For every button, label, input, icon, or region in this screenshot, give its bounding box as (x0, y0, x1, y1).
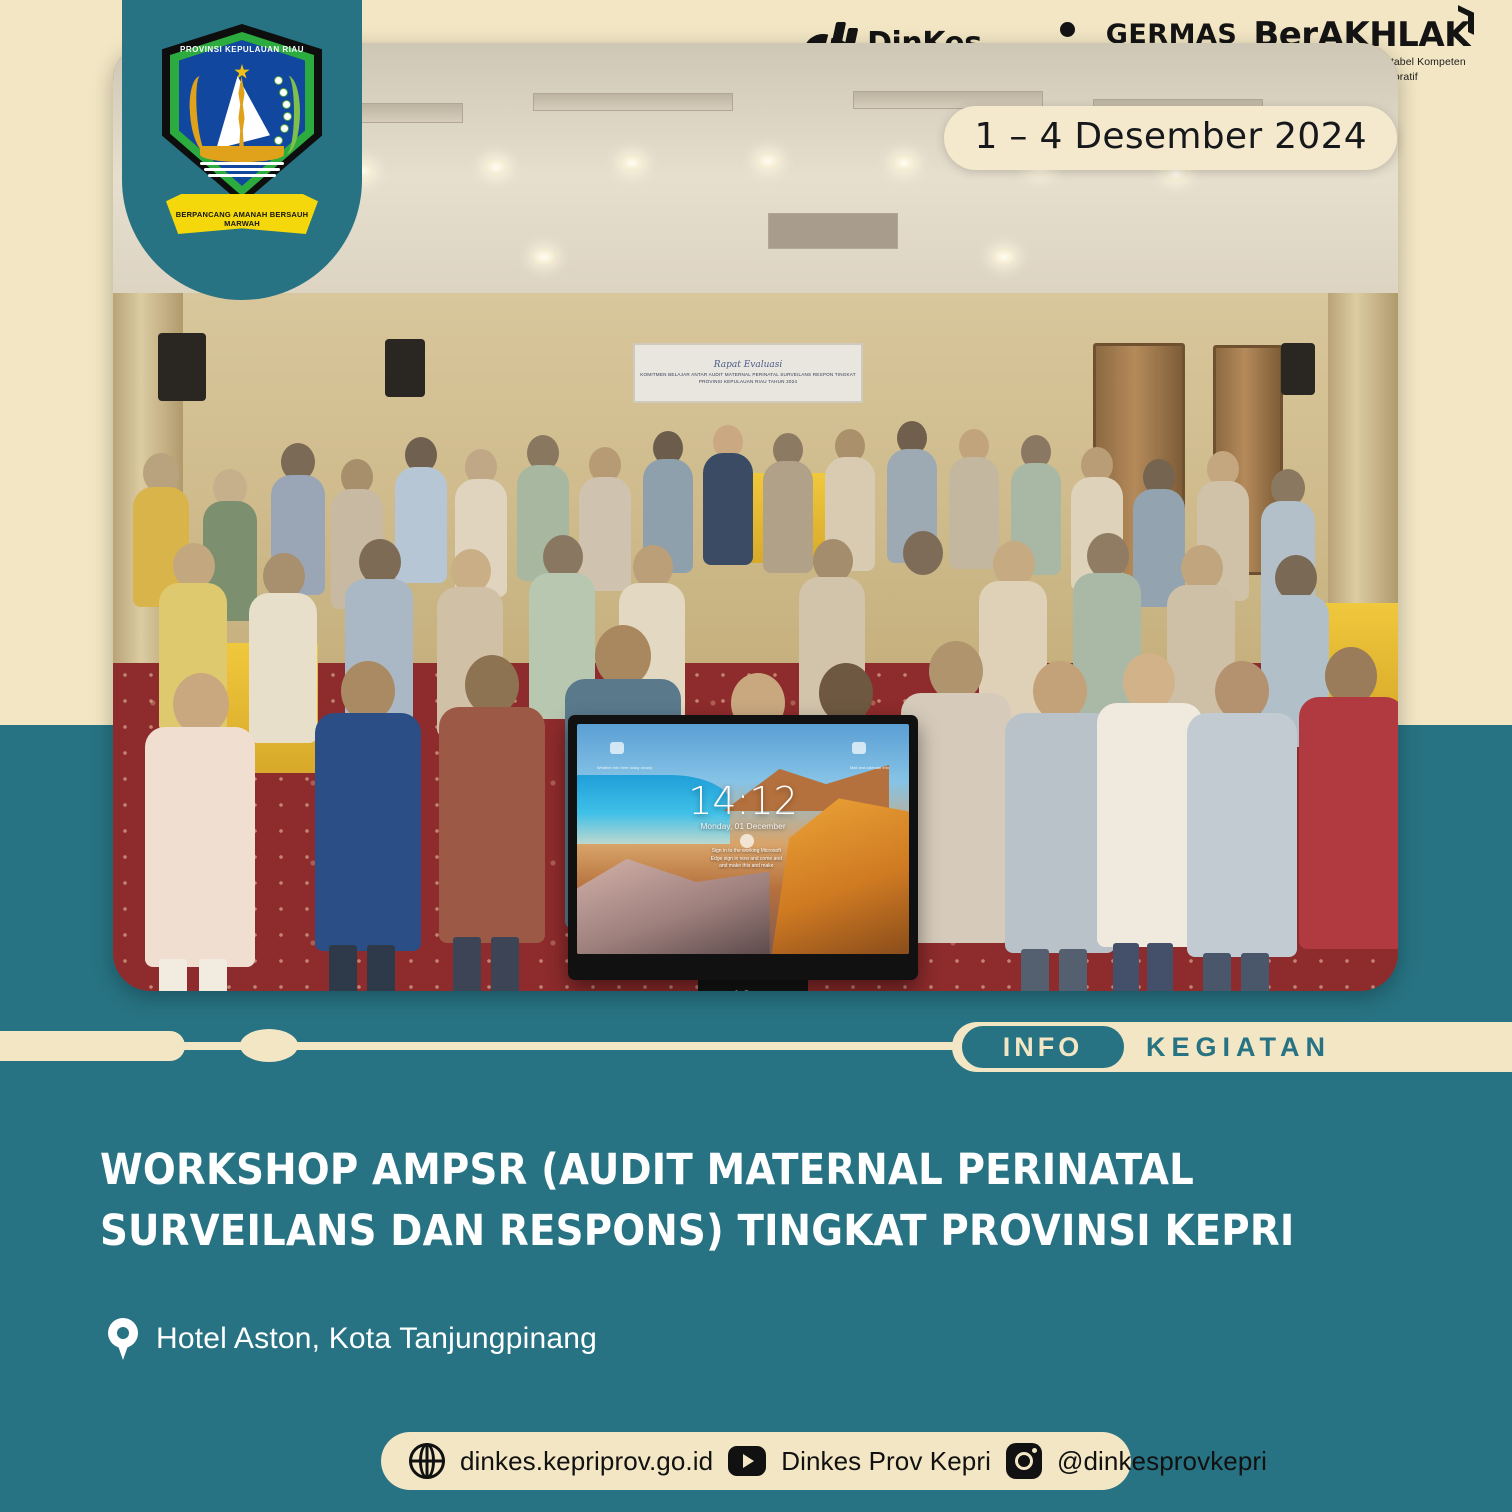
screen-clock: 14:12 (577, 779, 909, 823)
page-title-line-2: SURVEILANS DAN RESPONS) TINGKAT PROVINSI… (100, 1201, 1410, 1262)
location-row: Hotel Aston, Kota Tanjungpinang (108, 1318, 597, 1360)
screen-lock-avatar (740, 834, 754, 848)
banner-title: Rapat Evaluasi (714, 360, 783, 370)
kepri-provincial-emblem: PROVINSI KEPULAUAN RIAU BERPANCANG AMANA… (160, 18, 324, 248)
divider-line-long (290, 1042, 990, 1050)
ceiling-vent (768, 213, 898, 249)
screen-tile-text-right: Mail and calendar info (816, 765, 889, 771)
lg-monitor: Weather info here today cloudy Mail and … (568, 715, 918, 980)
ceiling-light (621, 155, 643, 171)
ceiling-light (533, 249, 555, 265)
footer-contact-bar: dinkes.kepriprov.go.id Dinkes Prov Kepri… (381, 1432, 1131, 1490)
page-title: WORKSHOP AMPSR (AUDIT MATERNAL PERINATAL… (100, 1140, 1410, 1262)
website-text[interactable]: dinkes.kepriprov.go.id (460, 1446, 713, 1477)
emblem-cotton-bud (283, 112, 292, 121)
emblem-water (200, 162, 284, 184)
emblem-boat (200, 146, 284, 162)
screen-note: Sign in to the working Microsoft Edge si… (710, 848, 783, 871)
divider-left-bar (0, 1031, 185, 1061)
kegiatan-label: KEGIATAN (1146, 1022, 1331, 1072)
emblem-holder: PROVINSI KEPULAUAN RIAU BERPANCANG AMANA… (122, 0, 362, 300)
emblem-cotton-bud (280, 124, 289, 133)
emblem-cotton-bud (279, 88, 288, 97)
screen-tile-right (852, 742, 866, 754)
monitor-brand: LG (568, 989, 918, 991)
ceiling-light (893, 155, 915, 171)
screen-date: Monday, 01 December (577, 821, 909, 831)
map-pin-icon (108, 1318, 138, 1360)
page-title-line-1: WORKSHOP AMPSR (AUDIT MATERNAL PERINATAL (100, 1140, 1410, 1201)
ceiling-light (757, 153, 779, 169)
info-kegiatan-row: INFO KEGIATAN (0, 1009, 1512, 1081)
globe-icon (409, 1443, 445, 1479)
location-text: Hotel Aston, Kota Tanjungpinang (156, 1322, 597, 1356)
ceiling-light (485, 159, 507, 175)
emblem-motto: BERPANCANG AMANAH BERSAUH MARWAH (166, 210, 318, 228)
ceiling-panel (533, 93, 733, 111)
ceiling-light (993, 249, 1015, 265)
emblem-cotton-bud (282, 100, 291, 109)
emblem-cotton-bud (274, 76, 283, 85)
emblem-cotton-bud (274, 136, 283, 145)
screen-tile-text-left: Weather info here today cloudy (597, 765, 670, 771)
instagram-icon[interactable] (1006, 1443, 1042, 1479)
instagram-text[interactable]: @dinkesprovkepri (1057, 1446, 1267, 1477)
poster-canvas: Rapat Evaluasi KOMITMEN BELAJAR ANTAR AU… (0, 0, 1512, 1512)
youtube-icon[interactable] (728, 1446, 766, 1476)
monitor-screen: Weather info here today cloudy Mail and … (577, 724, 909, 954)
youtube-text[interactable]: Dinkes Prov Kepri (781, 1446, 991, 1477)
info-badge: INFO (958, 1022, 1128, 1072)
screen-tile-left (610, 742, 624, 754)
event-date-badge: 1 – 4 Desember 2024 (944, 106, 1397, 170)
